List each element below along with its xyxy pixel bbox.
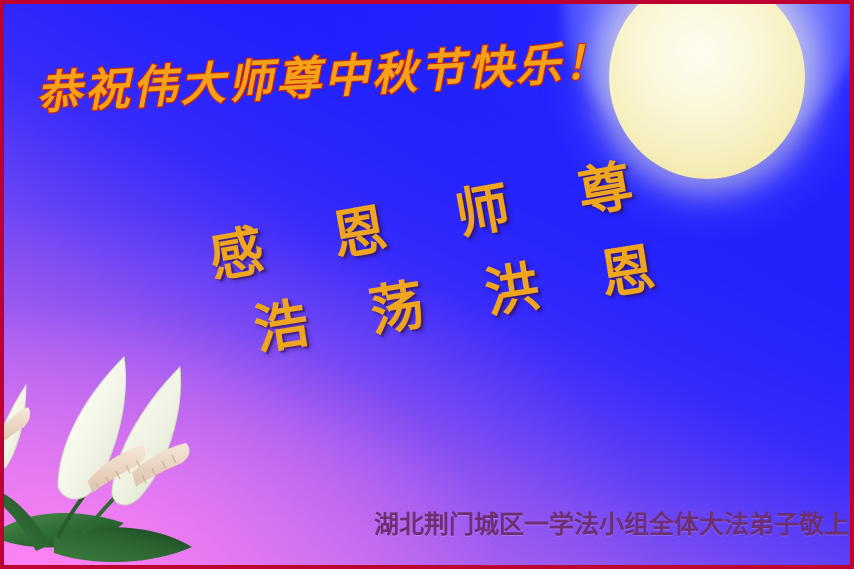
blessing-text-block: 感 恩 师 尊 浩 荡 洪 恩 bbox=[210, 192, 610, 372]
greeting-card: 恭祝伟大师尊中秋节快乐！ 感 恩 师 尊 浩 荡 洪 恩 湖北荆门城区一学法小组… bbox=[0, 0, 854, 569]
signature-text: 湖北荆门城区一学法小组全体大法弟子敬上 bbox=[374, 505, 849, 541]
